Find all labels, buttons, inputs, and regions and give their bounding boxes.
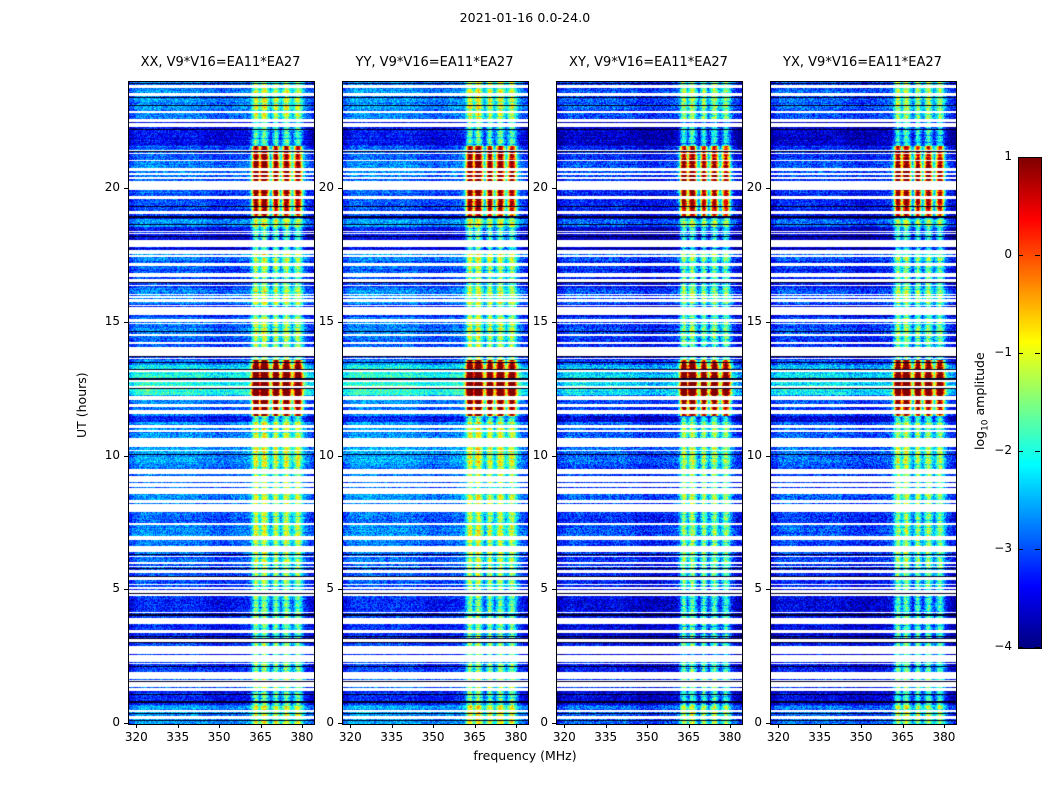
y-tick-label: 15: [728, 314, 762, 328]
y-tick-label: 20: [728, 180, 762, 194]
colorbar-tick-label: 1: [972, 149, 1012, 163]
figure-canvas: 2021-01-16 0.0-24.0 XX, V9*V16=EA11*EA27…: [0, 0, 1050, 800]
y-tick-label: 0: [728, 715, 762, 729]
x-tick-mark: [475, 724, 476, 728]
colorbar-tick-label: −4: [972, 639, 1012, 653]
y-tick-label: 5: [728, 581, 762, 595]
x-tick-mark: [178, 724, 179, 728]
y-tick-label: 10: [728, 448, 762, 462]
y-tick-mark: [552, 456, 556, 457]
y-tick-label: 20: [514, 180, 548, 194]
y-tick-label: 10: [300, 448, 334, 462]
y-tick-label: 5: [86, 581, 120, 595]
colorbar-tick-mark: [1018, 157, 1023, 158]
x-tick-mark: [392, 724, 393, 728]
y-tick-mark: [338, 589, 342, 590]
x-tick-label: 380: [705, 730, 755, 744]
y-tick-mark: [766, 723, 770, 724]
x-tick-mark: [136, 724, 137, 728]
colorbar-tick-mark: [1018, 353, 1023, 354]
colorbar-tick-mark: [1018, 255, 1023, 256]
colorbar-tick-mark: [1035, 549, 1040, 550]
x-tick-mark: [350, 724, 351, 728]
y-tick-label: 5: [300, 581, 334, 595]
x-tick-mark: [820, 724, 821, 728]
y-tick-label: 20: [86, 180, 120, 194]
waterfall-panel-yy: [342, 81, 529, 725]
colorbar: [1018, 157, 1042, 649]
y-tick-mark: [552, 723, 556, 724]
y-tick-mark: [338, 723, 342, 724]
y-tick-mark: [124, 723, 128, 724]
panel-title-xx: XX, V9*V16=EA11*EA27: [128, 55, 313, 70]
y-tick-label: 10: [514, 448, 548, 462]
colorbar-tick-mark: [1035, 647, 1040, 648]
y-tick-label: 15: [514, 314, 548, 328]
colorbar-tick-mark: [1018, 549, 1023, 550]
x-tick-label: 380: [491, 730, 541, 744]
x-tick-mark: [261, 724, 262, 728]
colorbar-tick-mark: [1035, 157, 1040, 158]
waterfall-panel-yx: [770, 81, 957, 725]
y-tick-label: 0: [300, 715, 334, 729]
colorbar-tick-label: −3: [972, 541, 1012, 555]
colorbar-tick-label: 0: [972, 247, 1012, 261]
y-tick-mark: [338, 322, 342, 323]
y-tick-mark: [766, 456, 770, 457]
y-axis-label: UT (hours): [74, 372, 89, 438]
figure-suptitle: 2021-01-16 0.0-24.0: [0, 10, 1050, 25]
colorbar-tick-mark: [1035, 255, 1040, 256]
colorbar-tick-mark: [1018, 451, 1023, 452]
panel-title-yx: YX, V9*V16=EA11*EA27: [770, 55, 955, 70]
x-tick-mark: [433, 724, 434, 728]
y-tick-mark: [552, 188, 556, 189]
y-tick-label: 0: [514, 715, 548, 729]
y-tick-mark: [552, 322, 556, 323]
y-tick-mark: [766, 322, 770, 323]
y-tick-mark: [552, 589, 556, 590]
x-tick-mark: [606, 724, 607, 728]
colorbar-label-sub: 10: [981, 419, 991, 430]
x-tick-mark: [689, 724, 690, 728]
colorbar-label-main: log: [972, 431, 987, 450]
y-tick-label: 10: [86, 448, 120, 462]
x-tick-mark: [778, 724, 779, 728]
y-tick-mark: [338, 188, 342, 189]
colorbar-label-tail: amplitude: [972, 352, 987, 419]
colorbar-tick-mark: [1035, 353, 1040, 354]
y-tick-mark: [124, 322, 128, 323]
x-tick-mark: [861, 724, 862, 728]
panel-title-xy: XY, V9*V16=EA11*EA27: [556, 55, 741, 70]
y-tick-mark: [124, 456, 128, 457]
waterfall-panel-xy: [556, 81, 743, 725]
x-tick-label: 380: [277, 730, 327, 744]
x-tick-mark: [219, 724, 220, 728]
y-tick-mark: [766, 589, 770, 590]
y-tick-mark: [124, 188, 128, 189]
colorbar-tick-mark: [1035, 451, 1040, 452]
y-tick-label: 5: [514, 581, 548, 595]
x-tick-mark: [647, 724, 648, 728]
x-tick-mark: [564, 724, 565, 728]
waterfall-panel-xx: [128, 81, 315, 725]
y-tick-mark: [338, 456, 342, 457]
y-tick-label: 0: [86, 715, 120, 729]
x-tick-label: 380: [919, 730, 969, 744]
x-tick-mark: [903, 724, 904, 728]
y-tick-mark: [766, 188, 770, 189]
x-axis-label: frequency (MHz): [0, 748, 1050, 763]
y-tick-mark: [124, 589, 128, 590]
x-tick-mark: [944, 724, 945, 728]
y-tick-label: 15: [86, 314, 120, 328]
y-tick-label: 15: [300, 314, 334, 328]
colorbar-tick-mark: [1018, 647, 1023, 648]
colorbar-label: log10 amplitude: [972, 352, 991, 450]
panel-title-yy: YY, V9*V16=EA11*EA27: [342, 55, 527, 70]
y-tick-label: 20: [300, 180, 334, 194]
